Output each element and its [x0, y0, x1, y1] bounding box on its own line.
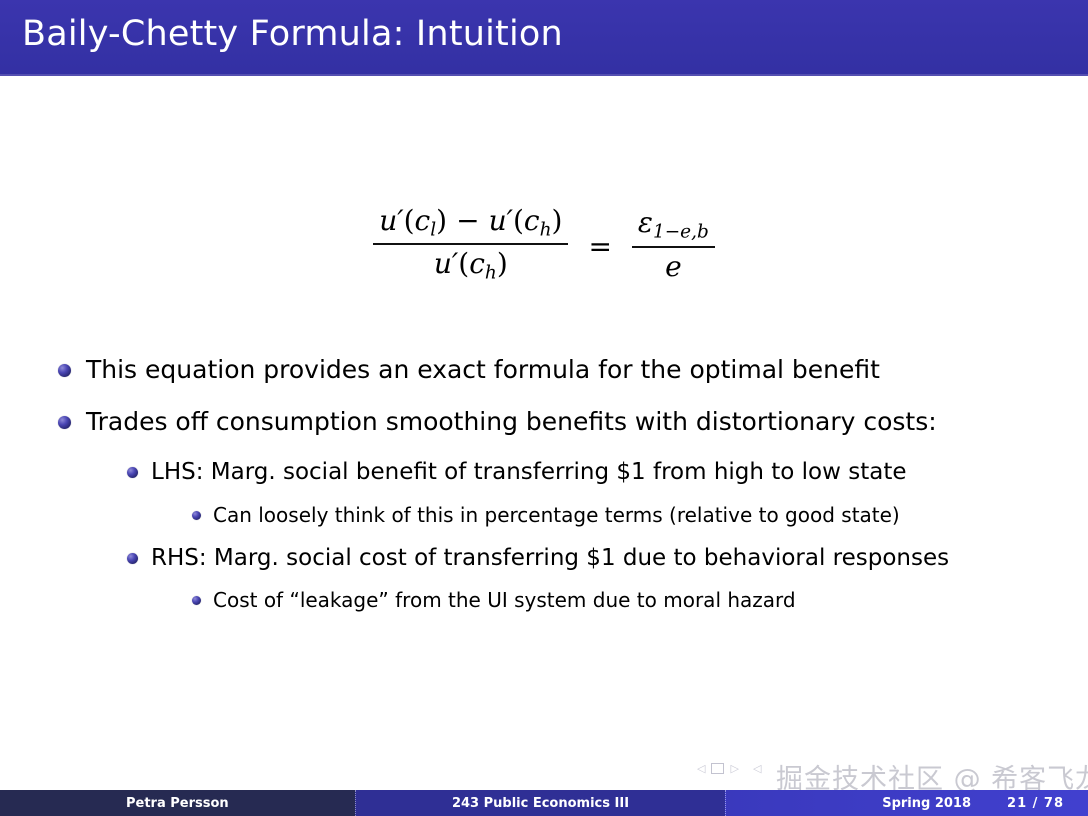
- list-item-label: Trades off consumption smoothing benefit…: [86, 407, 937, 437]
- current-frame-icon[interactable]: [711, 763, 724, 774]
- footer-author: Petra Persson: [0, 790, 355, 816]
- page-title: Baily-Chetty Formula: Intuition: [22, 14, 563, 54]
- bullet-point-icon: [127, 467, 138, 478]
- rhs-den-e: e: [665, 250, 682, 283]
- footer-page-number: 21 / 78: [1007, 796, 1064, 811]
- lhs-num-sub-h: h: [540, 220, 552, 241]
- equation-lhs-fraction: u′(cl)−u′(ch) u′(ch): [373, 206, 568, 284]
- bullet-point-icon: [58, 416, 71, 429]
- rhs-numerator: ε1−e,b: [632, 208, 715, 247]
- footer-right-section: Spring 2018 21 / 78: [725, 790, 1088, 816]
- list-item: This equation provides an exact formula …: [0, 355, 1088, 385]
- slide-footer: Petra Persson 243 Public Economics III S…: [0, 790, 1088, 816]
- slide-title-bar: Baily-Chetty Formula: Intuition: [0, 0, 1088, 76]
- equation-row: u′(cl)−u′(ch) u′(ch) = ε1−e,b e: [373, 206, 715, 284]
- list-item-label: This equation provides an exact formula …: [86, 355, 880, 385]
- lhs-num-open2: (: [513, 204, 524, 237]
- lhs-den-c: c: [469, 247, 485, 280]
- equation-display: u′(cl)−u′(ch) u′(ch) = ε1−e,b e: [0, 206, 1088, 284]
- lhs-num-c2: c: [524, 204, 540, 237]
- footer-course: 243 Public Economics III: [355, 790, 726, 816]
- title-underline-divider: [0, 74, 1088, 76]
- lhs-num-u1: u: [379, 204, 397, 237]
- beamer-navigation-bar[interactable]: ◁ ▷ ◁: [697, 762, 761, 775]
- rhs-epsilon-subscript: 1−e,b: [653, 222, 709, 243]
- bullet-point-icon: [127, 553, 138, 564]
- list-item-label: Cost of “leakage” from the UI system due…: [213, 588, 796, 612]
- lhs-den-sub-h: h: [485, 263, 497, 284]
- list-item-label: Can loosely think of this in percentage …: [213, 503, 900, 527]
- lhs-den-close: ): [497, 247, 508, 280]
- lhs-denominator: u′(ch): [428, 245, 514, 283]
- list-item: Cost of “leakage” from the UI system due…: [0, 588, 1088, 612]
- bullet-list: This equation provides an exact formula …: [0, 355, 1088, 630]
- bullet-point-icon: [192, 511, 201, 520]
- list-item: LHS: Marg. social benefit of transferrin…: [0, 459, 1088, 487]
- list-item-label: LHS: Marg. social benefit of transferrin…: [151, 459, 907, 487]
- bullet-point-icon: [192, 596, 201, 605]
- lhs-den-u: u: [434, 247, 452, 280]
- previous-slide-icon[interactable]: ◁: [697, 762, 705, 775]
- rhs-epsilon: ε: [638, 206, 653, 239]
- equation-rhs-fraction: ε1−e,b e: [632, 208, 715, 282]
- list-item: RHS: Marg. social cost of transferring $…: [0, 545, 1088, 573]
- list-item: Can loosely think of this in percentage …: [0, 503, 1088, 527]
- lhs-num-minus: −: [447, 204, 488, 237]
- lhs-num-c1: c: [415, 204, 431, 237]
- list-item-label: RHS: Marg. social cost of transferring $…: [151, 545, 949, 573]
- list-item: Trades off consumption smoothing benefit…: [0, 407, 1088, 437]
- lhs-num-close2: ): [552, 204, 563, 237]
- lhs-num-open1: (: [404, 204, 415, 237]
- next-slide-icon[interactable]: ▷: [730, 762, 738, 775]
- bullet-point-icon: [58, 364, 71, 377]
- equation-equals-sign: =: [588, 230, 611, 263]
- rhs-denominator: e: [659, 248, 688, 282]
- lhs-numerator: u′(cl)−u′(ch): [373, 206, 568, 245]
- slide-canvas: Baily-Chetty Formula: Intuition u′(cl)−u…: [0, 0, 1088, 816]
- lhs-num-close1: ): [436, 204, 447, 237]
- lhs-num-u2: u: [489, 204, 507, 237]
- footer-term: Spring 2018: [882, 796, 971, 811]
- lhs-den-open: (: [458, 247, 469, 280]
- previous-section-icon[interactable]: ◁: [753, 762, 761, 775]
